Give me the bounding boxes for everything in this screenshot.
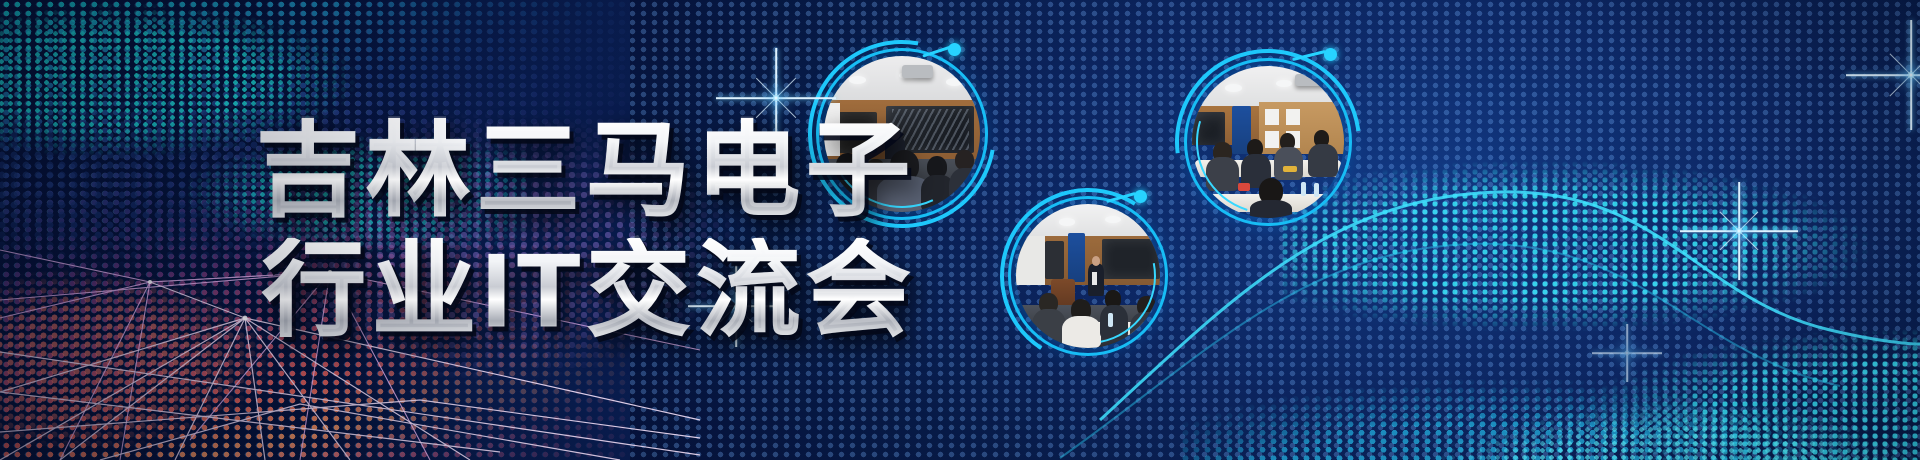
title-line-2: 行业IT交流会 [262, 238, 916, 344]
tech-ring-node [948, 43, 961, 56]
tech-ring-node [1134, 190, 1147, 203]
banner-title: 吉林三马电子 行业IT交流会 [256, 118, 916, 344]
title-line-1: 吉林三马电子 [256, 118, 916, 224]
event-banner: 吉林三马电子 行业IT交流会 [0, 0, 1920, 460]
photo-medallion-meeting-room [1172, 46, 1364, 238]
tech-ring-node [1324, 48, 1337, 61]
photo-medallion-podium-speaker [998, 186, 1178, 366]
